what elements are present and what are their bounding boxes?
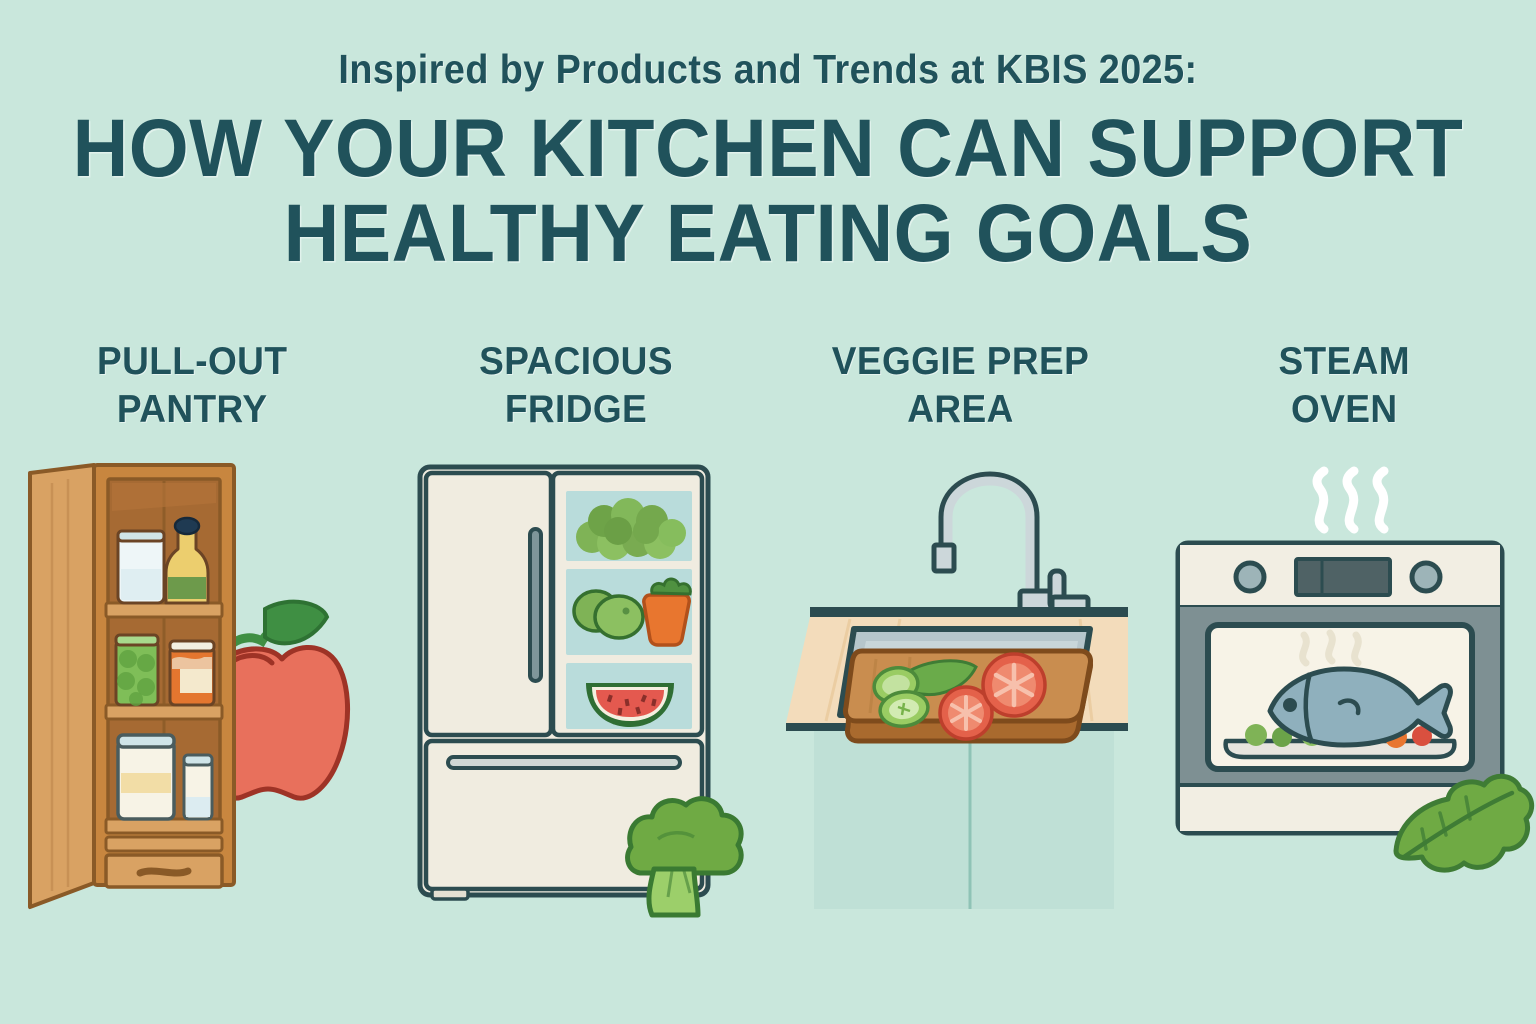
kicker-text: Inspired by Products and Trends at KBIS … <box>61 46 1474 93</box>
feature-columns: PULL-OUT PANTRY <box>0 338 1536 929</box>
pantry-cabinet <box>30 465 234 907</box>
control-knob-right[interactable] <box>1412 563 1440 591</box>
page-title: HOW YOUR KITCHEN CAN SUPPORT HEALTHY EAT… <box>46 107 1490 276</box>
small-spice-jar-icon <box>184 755 212 819</box>
headline-line-2: HEALTHY EATING GOALS <box>46 192 1490 276</box>
column-pull-out-pantry: PULL-OUT PANTRY <box>0 338 384 929</box>
green-pickles-jar-icon <box>116 635 158 706</box>
header: Inspired by Products and Trends at KBIS … <box>0 46 1536 276</box>
large-grain-jar-icon <box>118 735 174 819</box>
fridge-door-handle-upper[interactable] <box>530 529 541 681</box>
column-veggie-prep-area: VEGGIE PREP AREA <box>768 338 1152 929</box>
broccoli-icon <box>628 799 742 915</box>
pantry-art <box>0 459 384 929</box>
column-label-fridge: SPACIOUS FRIDGE <box>479 338 673 433</box>
pull-out-pantry-illustration <box>22 459 362 919</box>
control-display[interactable] <box>1296 559 1390 595</box>
infographic-poster: Inspired by Products and Trends at KBIS … <box>0 0 1536 1024</box>
column-steam-oven: STEAM OVEN <box>1152 338 1536 929</box>
white-milk-jar-icon <box>118 531 164 603</box>
column-label-pantry: PULL-OUT PANTRY <box>97 338 287 433</box>
steam-oven-art <box>1152 459 1536 929</box>
orange-preserves-jar-icon <box>170 641 214 705</box>
gooseneck-faucet-icon[interactable] <box>934 475 1088 625</box>
carrot-icon <box>644 579 691 645</box>
veggie-prep-area-illustration <box>780 459 1140 919</box>
fish-eye-icon <box>1283 698 1297 712</box>
column-label-steam-oven: STEAM OVEN <box>1278 338 1410 433</box>
column-spacious-fridge: SPACIOUS FRIDGE <box>384 338 768 929</box>
veggie-prep-art <box>768 459 1152 929</box>
steam-oven-illustration <box>1164 459 1524 919</box>
wood-cutting-board-icon <box>845 651 1090 741</box>
fridge-drawer-handle[interactable] <box>448 757 680 768</box>
headline-line-1: HOW YOUR KITCHEN CAN SUPPORT <box>46 107 1490 191</box>
column-label-veggie-prep: VEGGIE PREP AREA <box>831 338 1088 433</box>
control-knob-left[interactable] <box>1236 563 1264 591</box>
drawer-handle[interactable] <box>140 871 188 873</box>
steam-wisps-icon <box>1317 471 1384 529</box>
fridge-art <box>384 459 768 929</box>
spacious-fridge-illustration <box>406 459 746 919</box>
